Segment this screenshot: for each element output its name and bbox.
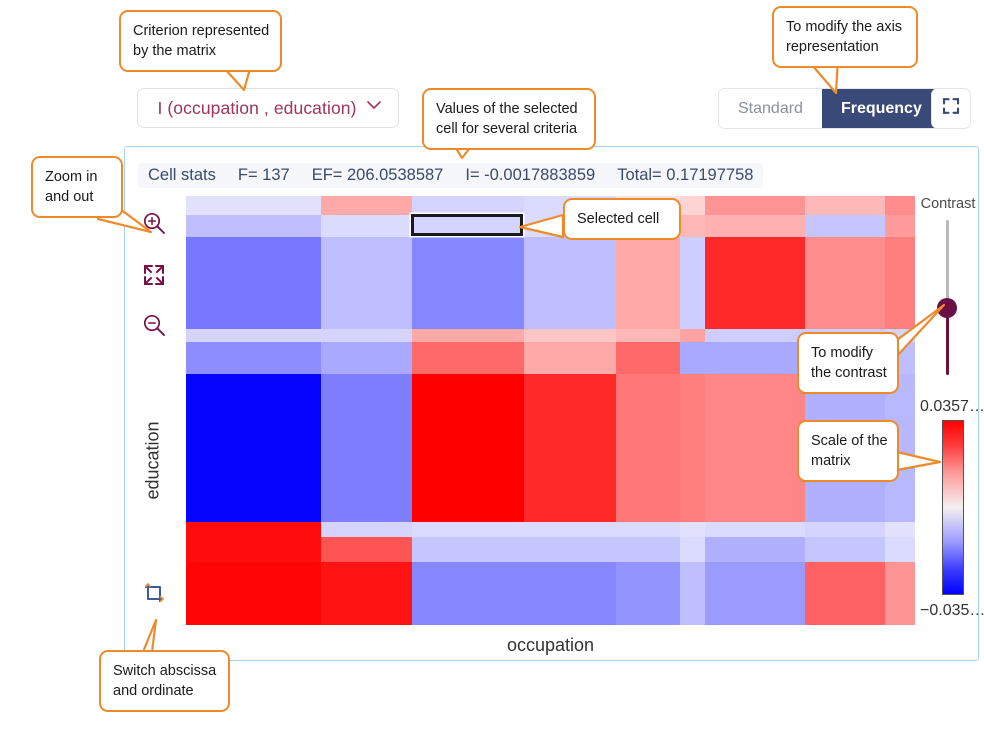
- cell-stat-ef: EF= 206.0538587: [312, 166, 444, 185]
- heatmap-cell[interactable]: [412, 342, 524, 374]
- heatmap-cell[interactable]: [805, 522, 885, 537]
- heatmap-cell[interactable]: [885, 196, 915, 215]
- heatmap-cell[interactable]: [321, 562, 412, 625]
- heatmap-cell[interactable]: [412, 562, 524, 625]
- callout-values: Values of the selected cell for several …: [422, 88, 596, 150]
- heatmap-cell[interactable]: [705, 215, 805, 237]
- heatmap-cell[interactable]: [524, 329, 616, 342]
- heatmap-cell[interactable]: [321, 537, 412, 562]
- heatmap-cell[interactable]: [616, 329, 680, 342]
- heatmap-cell[interactable]: [680, 215, 705, 237]
- heatmap-cell[interactable]: [321, 196, 412, 215]
- heatmap-cell[interactable]: [412, 522, 524, 537]
- heatmap-cell[interactable]: [412, 215, 524, 237]
- color-scale-bar: [942, 420, 964, 595]
- heatmap-cell[interactable]: [321, 342, 412, 374]
- heatmap-cell[interactable]: [186, 522, 321, 537]
- heatmap-cell[interactable]: [680, 237, 705, 329]
- heatmap-cell[interactable]: [805, 537, 885, 562]
- heatmap-cell[interactable]: [412, 537, 524, 562]
- criterion-select-label: I (occupation , education): [157, 98, 356, 119]
- swap-axes-icon: [139, 578, 169, 613]
- heatmap-cell[interactable]: [705, 237, 805, 329]
- heatmap-row: [186, 562, 915, 625]
- swap-axes-button[interactable]: [137, 578, 171, 612]
- heatmap-cell[interactable]: [680, 374, 705, 522]
- contrast-slider-track-lower: [946, 308, 949, 375]
- heatmap-cell[interactable]: [321, 374, 412, 522]
- heatmap-cell[interactable]: [680, 329, 705, 342]
- cell-stat-f: F= 137: [238, 166, 290, 185]
- heatmap-row: [186, 237, 915, 329]
- zoom-out-button[interactable]: [137, 310, 171, 344]
- zoom-out-icon: [141, 312, 167, 343]
- callout-axis-representation: To modify the axis representation: [772, 6, 918, 68]
- heatmap-cell[interactable]: [885, 237, 915, 329]
- callout-switch-axes: Switch abscissa and ordinate: [99, 650, 230, 712]
- callout-scale: Scale of the matrix: [797, 420, 899, 482]
- fullscreen-button[interactable]: [931, 88, 971, 129]
- heatmap-cell[interactable]: [524, 342, 616, 374]
- heatmap-cell[interactable]: [186, 562, 321, 625]
- heatmap-cell[interactable]: [616, 522, 680, 537]
- heatmap-cell[interactable]: [680, 342, 705, 374]
- heatmap-cell[interactable]: [616, 237, 680, 329]
- heatmap-cell[interactable]: [321, 522, 412, 537]
- heatmap-cell[interactable]: [705, 196, 805, 215]
- heatmap-cell[interactable]: [186, 329, 321, 342]
- zoom-in-icon: [141, 210, 167, 241]
- heatmap-cell[interactable]: [680, 196, 705, 215]
- heatmap-cell[interactable]: [885, 562, 915, 625]
- heatmap-cell[interactable]: [186, 374, 321, 522]
- heatmap-row: [186, 537, 915, 562]
- heatmap-cell[interactable]: [805, 215, 885, 237]
- heatmap-cell[interactable]: [705, 374, 805, 522]
- heatmap-cell[interactable]: [412, 329, 524, 342]
- heatmap-cell[interactable]: [805, 196, 885, 215]
- heatmap-cell[interactable]: [186, 215, 321, 237]
- heatmap-cell[interactable]: [616, 562, 680, 625]
- heatmap-cell[interactable]: [186, 237, 321, 329]
- callout-selected-cell: Selected cell: [563, 198, 681, 240]
- heatmap-cell[interactable]: [805, 562, 885, 625]
- fullscreen-icon: [941, 96, 961, 121]
- zoom-in-button[interactable]: [137, 208, 171, 242]
- heatmap-cell[interactable]: [524, 374, 616, 522]
- contrast-slider-track-upper: [946, 220, 949, 308]
- heatmap-cell[interactable]: [616, 537, 680, 562]
- fit-to-screen-button[interactable]: [137, 260, 171, 294]
- contrast-slider-thumb[interactable]: [937, 298, 957, 318]
- heatmap-cell[interactable]: [705, 562, 805, 625]
- heatmap-cell[interactable]: [412, 374, 524, 522]
- contrast-label: Contrast: [912, 196, 984, 212]
- y-axis-title: education: [133, 395, 173, 525]
- heatmap-cell[interactable]: [616, 342, 680, 374]
- heatmap-cell[interactable]: [186, 342, 321, 374]
- callout-criterion: Criterion represented by the matrix: [119, 10, 282, 72]
- heatmap-cell[interactable]: [524, 522, 616, 537]
- heatmap-cell[interactable]: [186, 537, 321, 562]
- heatmap-cell[interactable]: [321, 329, 412, 342]
- heatmap-cell[interactable]: [885, 537, 915, 562]
- cell-stat-i: I= -0.0017883859: [465, 166, 595, 185]
- heatmap-cell[interactable]: [524, 237, 616, 329]
- heatmap-cell[interactable]: [705, 342, 805, 374]
- heatmap-row: [186, 196, 915, 215]
- heatmap-cell[interactable]: [705, 329, 805, 342]
- cell-stat-total: Total= 0.17197758: [617, 166, 753, 185]
- heatmap-cell[interactable]: [805, 237, 885, 329]
- heatmap-cell[interactable]: [412, 196, 524, 215]
- heatmap-cell[interactable]: [885, 522, 915, 537]
- fit-screen-icon: [141, 262, 167, 293]
- chevron-down-icon: [367, 100, 379, 112]
- heatmap-cell[interactable]: [680, 562, 705, 625]
- contrast-slider[interactable]: [944, 220, 950, 375]
- heatmap-cell[interactable]: [321, 215, 412, 237]
- heatmap-cell[interactable]: [885, 215, 915, 237]
- heatmap-cell[interactable]: [680, 537, 705, 562]
- heatmap-cell[interactable]: [680, 522, 705, 537]
- cell-stats-title: Cell stats: [148, 166, 216, 185]
- x-axis-title: occupation: [186, 630, 915, 660]
- heatmap-cell[interactable]: [524, 537, 616, 562]
- heatmap-cell[interactable]: [705, 522, 805, 537]
- callout-zoom: Zoom in and out: [31, 156, 123, 218]
- scale-min-label: −0.035…: [920, 602, 984, 620]
- criterion-select[interactable]: I (occupation , education): [137, 88, 399, 128]
- callout-contrast: To modify the contrast: [797, 332, 899, 394]
- heatmap-cell[interactable]: [705, 537, 805, 562]
- heatmap-cell[interactable]: [412, 237, 524, 329]
- heatmap-cell[interactable]: [186, 196, 321, 215]
- tab-frequency[interactable]: Frequency: [822, 89, 941, 128]
- heatmap-row: [186, 215, 915, 237]
- heatmap-cell[interactable]: [321, 237, 412, 329]
- cell-stats-bar: Cell stats F= 137 EF= 206.0538587 I= -0.…: [138, 163, 763, 188]
- heatmap-matrix[interactable]: [186, 196, 915, 625]
- axis-representation-toggle[interactable]: Standard Frequency: [718, 88, 942, 129]
- heatmap-cell[interactable]: [616, 374, 680, 522]
- scale-max-label: 0.0357…: [920, 398, 984, 416]
- heatmap-row: [186, 522, 915, 537]
- tab-standard[interactable]: Standard: [719, 89, 822, 128]
- heatmap-cell[interactable]: [524, 562, 616, 625]
